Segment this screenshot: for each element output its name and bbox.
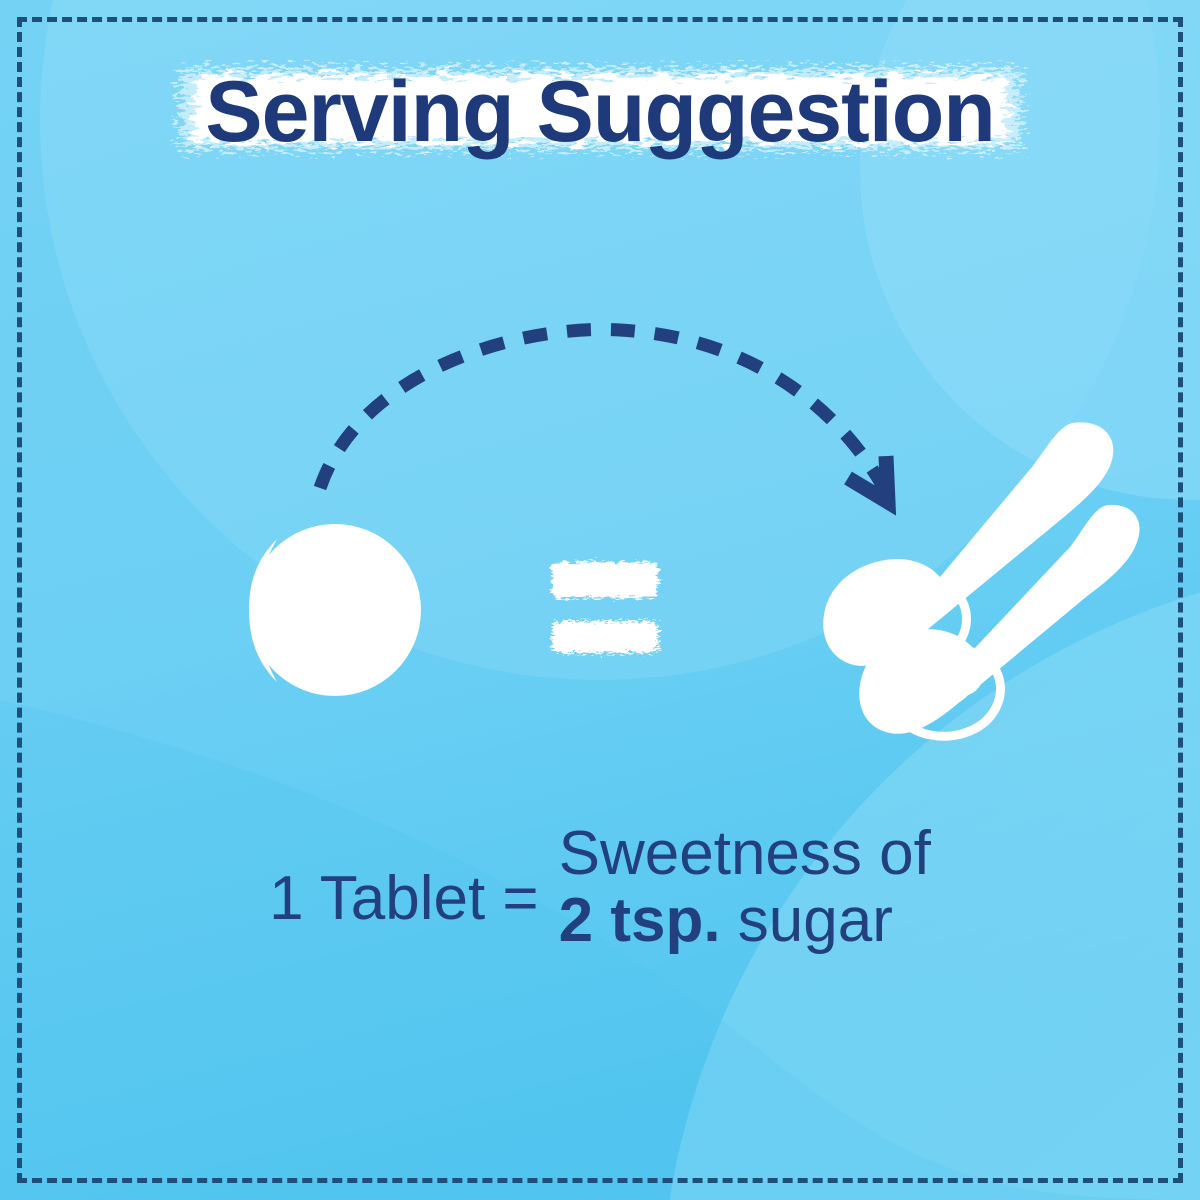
page-title: Serving Suggestion xyxy=(205,69,995,155)
round-tablet-icon xyxy=(243,521,421,699)
caption-left-group: 1 Tablet = xyxy=(269,846,558,930)
curved-dashed-arrow-icon xyxy=(290,310,930,530)
sugar-amount-rest: sugar xyxy=(721,886,893,955)
caption-right-group: Sweetness of 2 tsp. sugar xyxy=(559,821,931,955)
sugar-amount-line: 2 tsp. sugar xyxy=(559,888,931,955)
equals-symbol-text: = xyxy=(502,864,538,933)
serving-suggestion-infographic: Serving Suggestion xyxy=(0,0,1200,1200)
page-title-container: Serving Suggestion xyxy=(0,52,1200,172)
arrow-head xyxy=(848,456,888,502)
sweetness-line: Sweetness of xyxy=(559,821,931,888)
sugar-equals-icon xyxy=(548,555,663,660)
sugar-amount-bold: 2 tsp. xyxy=(559,886,721,955)
tablet-label: 1 Tablet xyxy=(269,864,485,933)
equation-caption: 1 Tablet = Sweetness of 2 tsp. sugar xyxy=(0,805,1200,970)
